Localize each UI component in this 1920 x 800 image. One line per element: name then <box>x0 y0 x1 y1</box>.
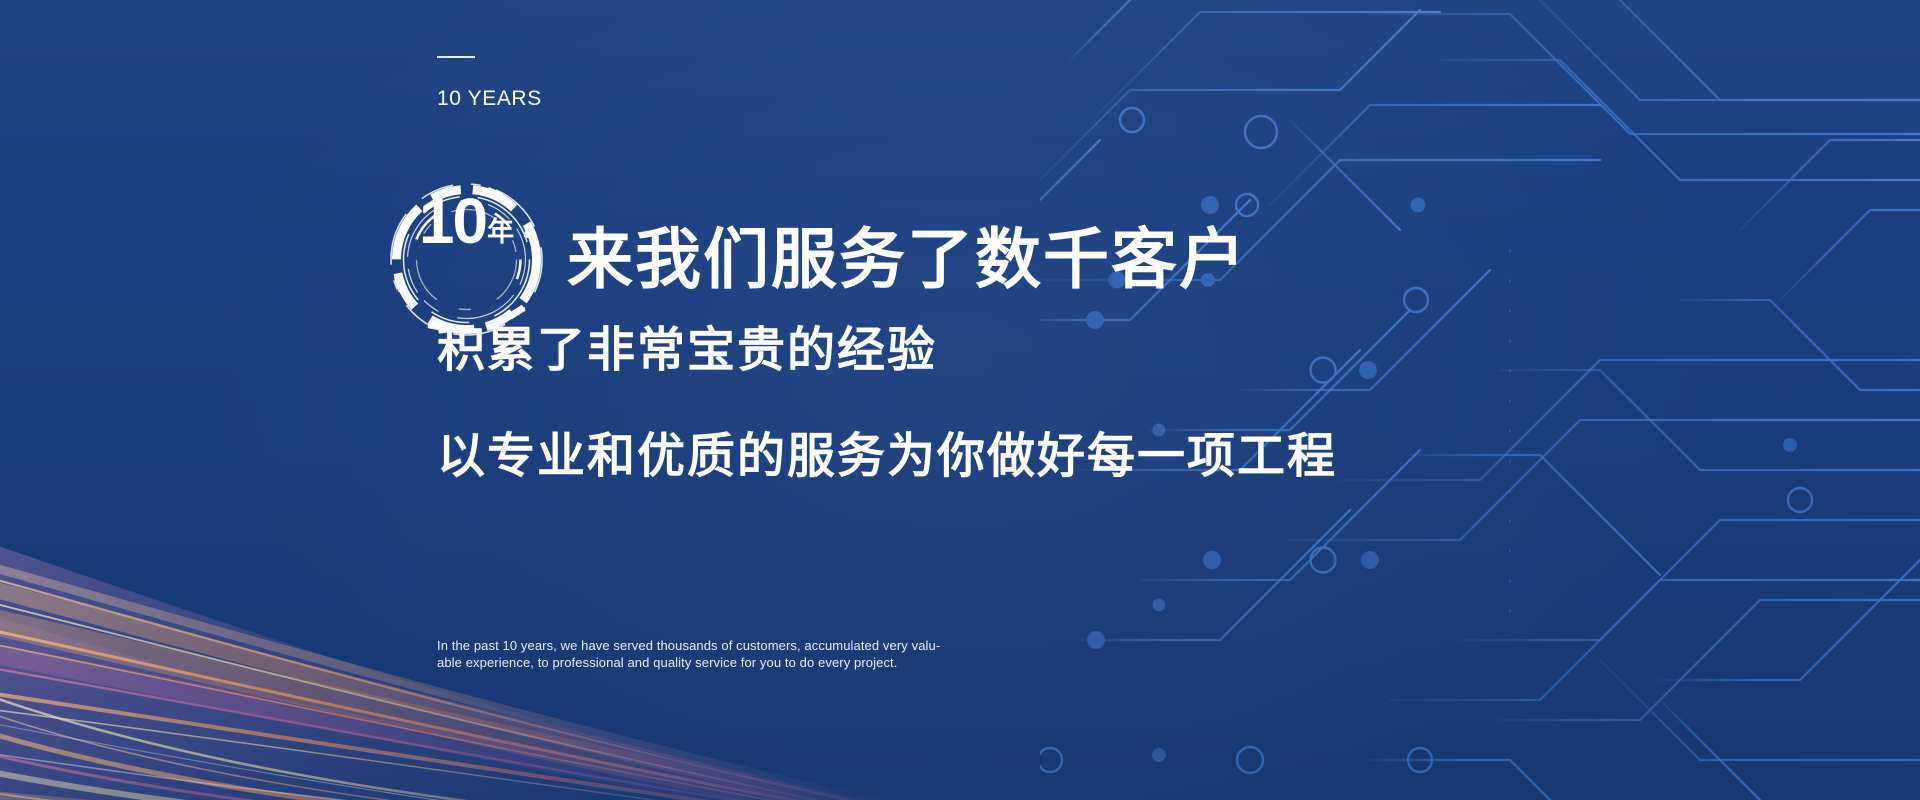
badge-number: 10 <box>419 189 486 253</box>
description-line-1: In the past 10 years, we have served tho… <box>437 637 869 654</box>
ten-years-badge: 10 年 <box>388 181 545 338</box>
headline-primary-row: 10 年 来我们服务了数千客户 <box>388 181 1247 338</box>
banner-content: 10 YEARS <box>437 0 1637 800</box>
eyebrow-label: 10 YEARS <box>437 87 542 111</box>
headline-line-3: 以专业和优质的服务为你做好每一项工程 <box>437 432 1337 480</box>
headline-line-1: 来我们服务了数千客户 <box>567 227 1247 293</box>
hero-banner: 10 YEARS <box>0 0 1920 800</box>
description-paragraph: In the past 10 years, we have served tho… <box>437 637 869 671</box>
description-line-2: able experience, to professional and qua… <box>437 654 869 671</box>
badge-unit: 年 <box>487 219 514 246</box>
badge-text: 10 年 <box>388 181 545 338</box>
headline-line-2: 积累了非常宝贵的经验 <box>437 326 937 374</box>
eyebrow-rule <box>437 56 475 58</box>
